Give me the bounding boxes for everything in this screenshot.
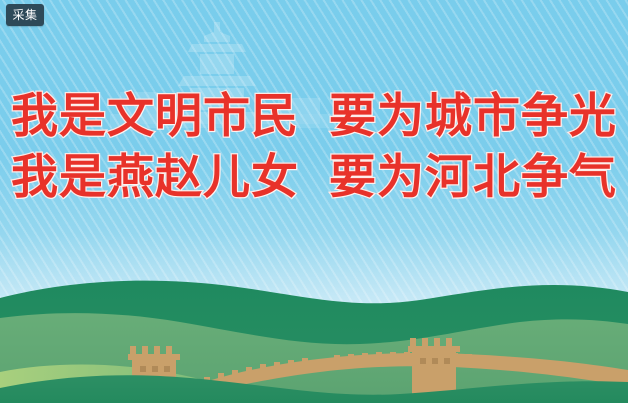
banner-screenshot: 我是文明市民 要为城市争光 我是燕赵儿女 要为河北争气 采集 [0, 0, 628, 403]
slogan-line-1-right: 要为城市争光 [329, 92, 617, 141]
slogan-line-1: 我是文明市民 要为城市争光 [0, 92, 628, 141]
slogan-line-2: 我是燕赵儿女 要为河北争气 [0, 153, 628, 202]
landscape-illustration [0, 260, 628, 403]
capture-button[interactable]: 采集 [6, 4, 44, 26]
slogan-block: 我是文明市民 要为城市争光 我是燕赵儿女 要为河北争气 [0, 92, 628, 203]
slogan-line-2-left: 我是燕赵儿女 [11, 153, 299, 202]
slogan-line-1-left: 我是文明市民 [11, 92, 299, 141]
slogan-line-2-right: 要为河北争气 [329, 153, 617, 202]
